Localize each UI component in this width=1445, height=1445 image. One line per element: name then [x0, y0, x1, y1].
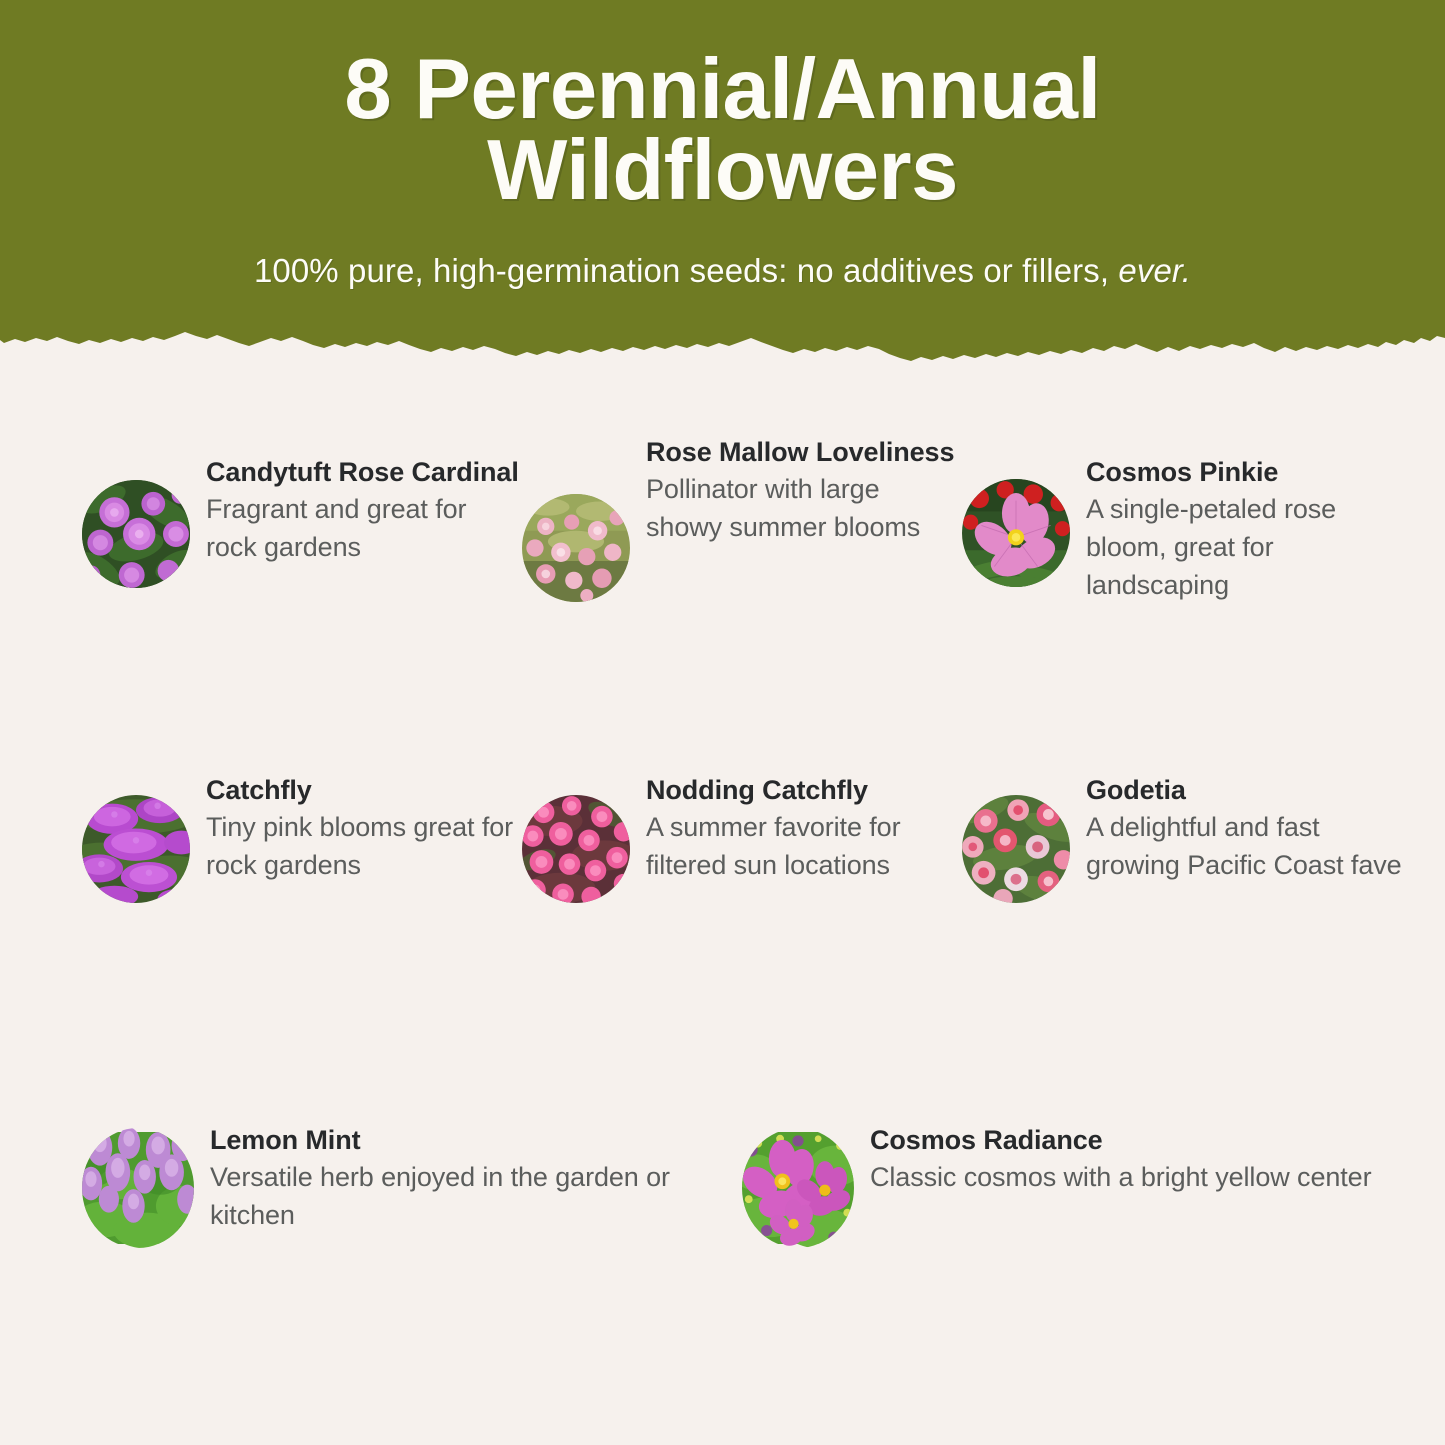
flower-name: Lemon Mint	[210, 1122, 742, 1158]
flower-item-godetia[interactable]: Godetia A delightful and fast growing Pa…	[962, 770, 1402, 903]
flower-name: Cosmos Radiance	[870, 1122, 1402, 1158]
flower-row-1: Candytuft Rose Cardinal Fragrant and gre…	[0, 322, 1445, 652]
page-title-line2: Wildflowers	[487, 123, 958, 218]
flower-text-block: Cosmos Pinkie A single-petaled rose bloo…	[1086, 452, 1402, 605]
header-content: 8 Perennial/AnnualWildflowers 100% pure,…	[0, 0, 1445, 290]
flower-name: Godetia	[1086, 772, 1402, 808]
flower-row-3: Lemon Mint Versatile herb enjoyed in the…	[0, 992, 1445, 1292]
flower-item-nodding-catchfly[interactable]: Nodding Catchfly A summer favorite for f…	[522, 770, 962, 903]
page-title: 8 Perennial/AnnualWildflowers	[0, 50, 1445, 212]
cosmos-radiance-photo-icon	[742, 1128, 854, 1248]
flower-text-block: Candytuft Rose Cardinal Fragrant and gre…	[206, 452, 522, 567]
flower-item-rose-mallow-loveliness[interactable]: Rose Mallow Loveliness Pollinator with l…	[522, 452, 962, 605]
flower-item-candytuft-rose-cardinal[interactable]: Candytuft Rose Cardinal Fragrant and gre…	[82, 452, 522, 605]
subtitle-main-text: 100% pure, high-germination seeds: no ad…	[254, 252, 1118, 289]
header-banner: 8 Perennial/AnnualWildflowers 100% pure,…	[0, 0, 1445, 322]
flower-text-block: Godetia A delightful and fast growing Pa…	[1086, 770, 1402, 885]
flower-list: Candytuft Rose Cardinal Fragrant and gre…	[0, 322, 1445, 1292]
page-subtitle: 100% pure, high-germination seeds: no ad…	[0, 252, 1445, 290]
flower-text-block: Rose Mallow Loveliness Pollinator with l…	[646, 432, 962, 547]
flower-row-2: Catchfly Tiny pink blooms great for rock…	[0, 652, 1445, 992]
flower-name: Rose Mallow Loveliness	[646, 434, 962, 470]
flower-name: Catchfly	[206, 772, 522, 808]
flower-item-catchfly[interactable]: Catchfly Tiny pink blooms great for rock…	[82, 770, 522, 903]
flower-description: Versatile herb enjoyed in the garden or …	[210, 1159, 742, 1235]
lemon-mint-photo-icon	[82, 1128, 194, 1248]
cosmos-pinkie-photo-icon	[962, 479, 1070, 587]
flower-text-block: Cosmos Radiance Classic cosmos with a br…	[870, 1120, 1402, 1197]
rose-mallow-loveliness-photo-icon	[522, 494, 630, 602]
flower-text-block: Lemon Mint Versatile herb enjoyed in the…	[210, 1120, 742, 1235]
flower-name: Cosmos Pinkie	[1086, 454, 1402, 490]
flower-description: Classic cosmos with a bright yellow cent…	[870, 1159, 1402, 1197]
flower-text-block: Catchfly Tiny pink blooms great for rock…	[206, 770, 522, 885]
nodding-catchfly-photo-icon	[522, 795, 630, 903]
flower-name: Candytuft Rose Cardinal	[206, 454, 522, 490]
flower-text-block: Nodding Catchfly A summer favorite for f…	[646, 770, 962, 885]
flower-item-lemon-mint[interactable]: Lemon Mint Versatile herb enjoyed in the…	[82, 1120, 742, 1248]
candytuft-rose-cardinal-photo-icon	[82, 480, 190, 588]
subtitle-emphasis-text: ever.	[1118, 252, 1191, 289]
flower-description: Tiny pink blooms great for rock gardens	[206, 809, 522, 885]
flower-description: Fragrant and great for rock gardens	[206, 491, 522, 567]
flower-description: Pollinator with large showy summer bloom…	[646, 471, 962, 547]
godetia-photo-icon	[962, 795, 1070, 903]
catchfly-photo-icon	[82, 795, 190, 903]
flower-description: A summer favorite for filtered sun locat…	[646, 809, 962, 885]
flower-item-cosmos-radiance[interactable]: Cosmos Radiance Classic cosmos with a br…	[742, 1120, 1402, 1248]
flower-description: A single-petaled rose bloom, great for l…	[1086, 491, 1402, 604]
flower-name: Nodding Catchfly	[646, 772, 962, 808]
flower-description: A delightful and fast growing Pacific Co…	[1086, 809, 1402, 885]
flower-item-cosmos-pinkie[interactable]: Cosmos Pinkie A single-petaled rose bloo…	[962, 452, 1402, 605]
infographic-page: 8 Perennial/AnnualWildflowers 100% pure,…	[0, 0, 1445, 1445]
